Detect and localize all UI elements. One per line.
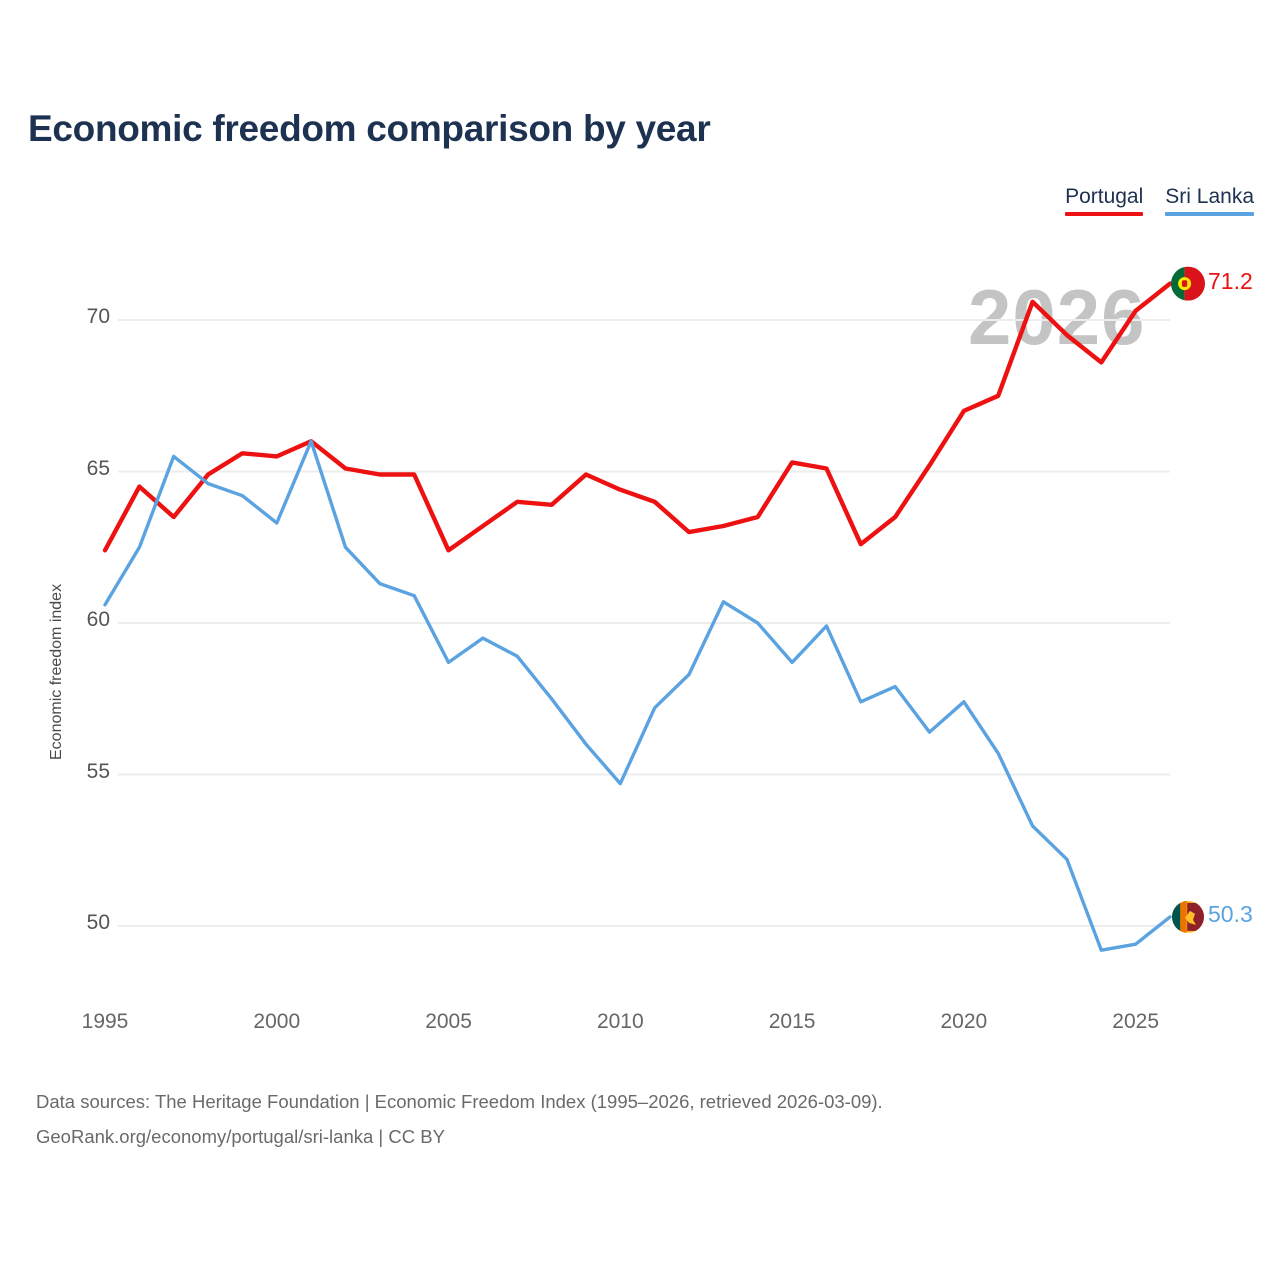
- footer-line-attribution: GeoRank.org/economy/portugal/sri-lanka |…: [36, 1119, 883, 1154]
- chart-footer: Data sources: The Heritage Foundation | …: [36, 1084, 883, 1154]
- end-value-label-portugal: 71.2: [1208, 268, 1253, 295]
- series-line-sri-lanka: [105, 441, 1170, 950]
- footer-line-sources: Data sources: The Heritage Foundation | …: [36, 1084, 883, 1119]
- chart-page: Economic freedom comparison by year Port…: [0, 0, 1280, 1280]
- series-line-portugal: [105, 284, 1170, 551]
- end-value-label-sri-lanka: 50.3: [1208, 901, 1253, 928]
- end-markers: [1171, 267, 1219, 933]
- grid-lines: [118, 320, 1170, 926]
- series-lines: [105, 284, 1170, 951]
